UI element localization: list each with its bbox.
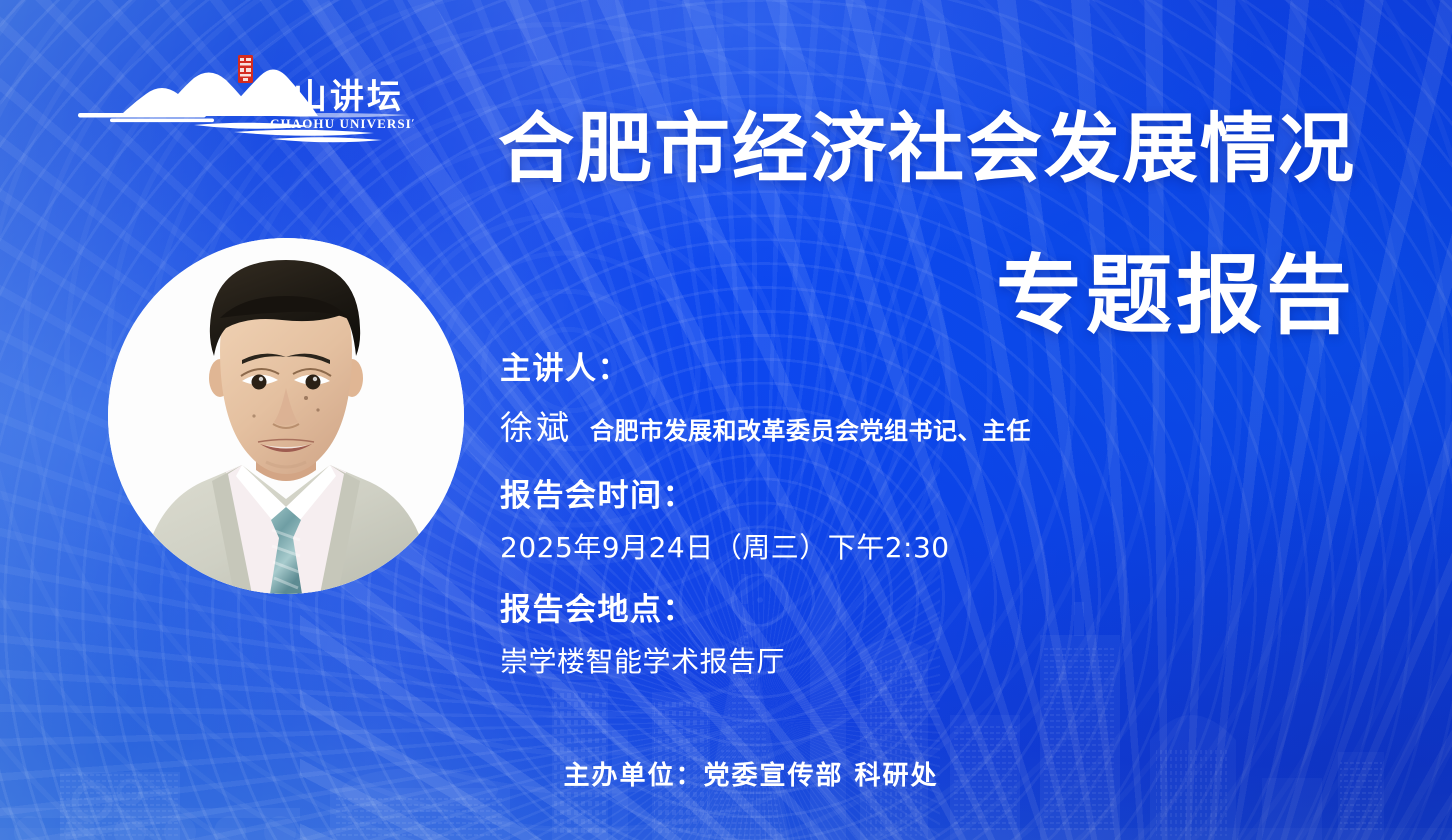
poster-title: 合肥市经济社会发展情况 专题报告 <box>416 108 1356 342</box>
time-value: 2025年9月24日（周三）下午2:30 <box>500 528 1380 568</box>
speaker-row: 徐斌 合肥市发展和改革委员会党组书记、主任 <box>500 407 1380 452</box>
logo-brand-cn: 汤山讲坛 <box>256 77 404 117</box>
time-label: 报告会时间： <box>500 474 1380 518</box>
place-value: 崇学楼智能学术报告厅 <box>500 642 1380 682</box>
title-line-2: 专题报告 <box>416 250 1356 342</box>
organizer-line: 主办单位：党委宣传部 科研处 <box>0 755 1452 792</box>
event-details: 主讲人： 徐斌 合肥市发展和改革委员会党组书记、主任 报告会时间： 2025年9… <box>500 347 1380 700</box>
title-line-1: 合肥市经济社会发展情况 <box>416 108 1356 190</box>
logo-brand-en: CHAOHU UNIVERSITY <box>270 116 414 131</box>
portrait-circle-mask <box>108 238 464 594</box>
place-label: 报告会地点： <box>500 588 1380 632</box>
event-poster: 汤山讲坛 CHAOHU UNIVERSITY <box>0 0 1452 840</box>
speaker-name: 徐斌 <box>500 407 572 449</box>
portrait-illustration <box>108 238 464 594</box>
speaker-position: 合肥市发展和改革委员会党组书记、主任 <box>590 410 1031 452</box>
red-seal-icon <box>238 55 253 83</box>
speaker-label: 主讲人： <box>500 347 1380 391</box>
speaker-portrait <box>108 238 464 594</box>
chaohu-university-logo: 汤山讲坛 CHAOHU UNIVERSITY <box>74 52 414 147</box>
